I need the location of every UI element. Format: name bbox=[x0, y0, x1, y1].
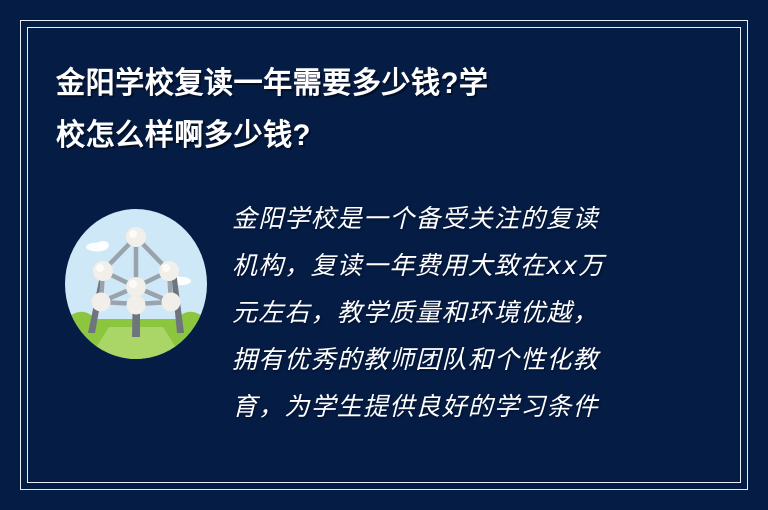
title-line-2: 校怎么样啊多少钱? bbox=[56, 110, 638, 162]
body-line-5: 育，为学生提供良好的学习条件 bbox=[232, 383, 662, 430]
body-line-1: 金阳学校是一个备受关注的复读 bbox=[232, 195, 662, 242]
body-line-2: 机构，复读一年费用大致在xx万 bbox=[232, 242, 662, 289]
body-line-4: 拥有优秀的教师团队和个性化教 bbox=[232, 336, 662, 383]
atomium-monument-icon bbox=[65, 209, 207, 359]
atomium-illustration bbox=[65, 209, 207, 359]
page-title: 金阳学校复读一年需要多少钱?学 校怎么样啊多少钱? bbox=[56, 58, 656, 162]
body-paragraph: 金阳学校是一个备受关注的复读 机构，复读一年费用大致在xx万 元左右，教学质量和… bbox=[232, 195, 662, 430]
info-card: 金阳学校复读一年需要多少钱?学 校怎么样啊多少钱? bbox=[0, 0, 768, 510]
body-line-3: 元左右，教学质量和环境优越， bbox=[232, 289, 662, 336]
title-line-1: 金阳学校复读一年需要多少钱?学 bbox=[56, 58, 638, 110]
content-row: 金阳学校是一个备受关注的复读 机构，复读一年费用大致在xx万 元左右，教学质量和… bbox=[56, 195, 712, 430]
